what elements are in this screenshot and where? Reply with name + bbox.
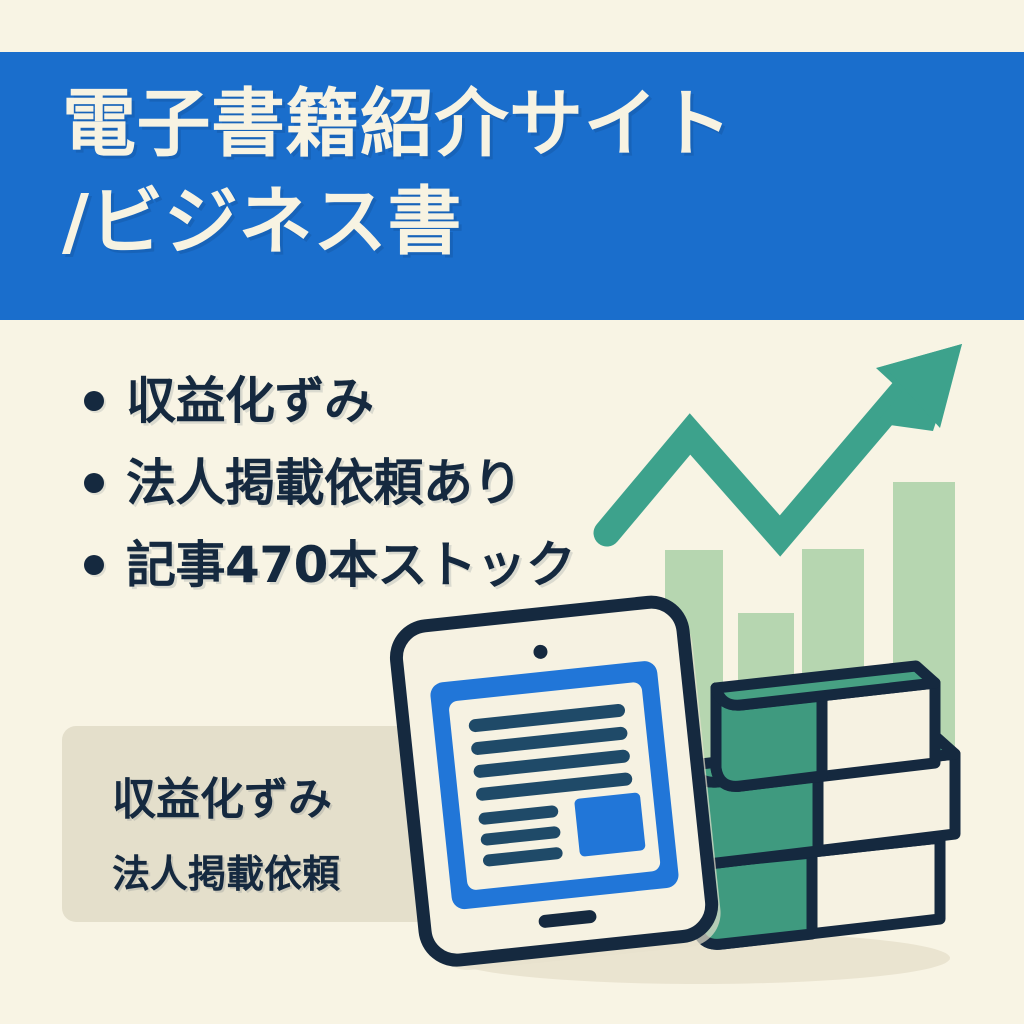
foreground-artwork [0, 0, 1024, 1024]
document-image-block [574, 792, 646, 857]
tablet-device-icon [393, 598, 724, 974]
book-stack-icon [692, 666, 955, 944]
promo-graphic-canvas: 電子書籍紹介サイト /ビジネス書 収益化ずみ 法人掲載依頼あり 記事470本スト… [0, 0, 1024, 1024]
